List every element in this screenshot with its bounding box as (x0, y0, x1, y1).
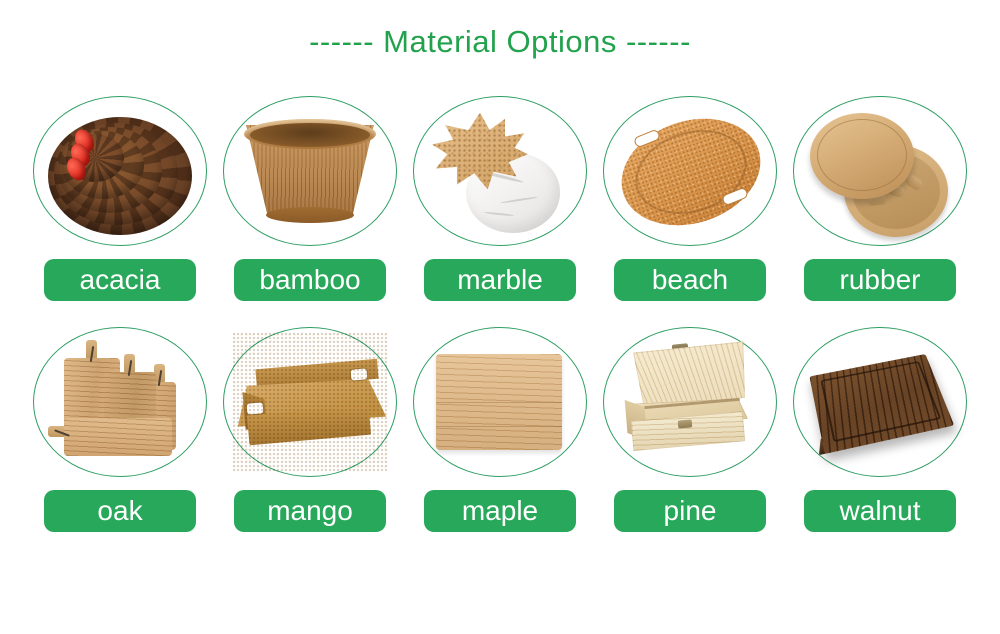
material-thumbnail-frame[interactable] (30, 319, 210, 484)
material-option-oak[interactable]: oak (30, 319, 210, 532)
material-row: oak (30, 319, 970, 532)
material-option-pine[interactable]: pine (600, 319, 780, 532)
material-option-marble[interactable]: marble (410, 88, 590, 301)
material-label-text: acacia (80, 266, 161, 294)
material-label-pill[interactable]: maple (424, 490, 576, 532)
maple-rectangular-cutting-board-image (422, 332, 578, 472)
marble-pineapple-serving-board-image (422, 101, 578, 241)
material-thumbnail-frame[interactable] (790, 319, 970, 484)
material-option-rubber[interactable]: rubber (790, 88, 970, 301)
rubberwood-round-cheese-board-set-image (802, 101, 958, 241)
material-label-pill[interactable]: marble (424, 259, 576, 301)
material-label-text: walnut (840, 497, 921, 525)
material-option-beach[interactable]: beach (600, 88, 780, 301)
material-label-text: beach (652, 266, 728, 294)
material-label-text: maple (462, 497, 538, 525)
pine-open-hinged-storage-box-image (612, 332, 768, 472)
material-label-pill[interactable]: mango (234, 490, 386, 532)
material-row: acacia bamboo (30, 88, 970, 301)
page-title-text: ------ Material Options ------ (309, 24, 691, 60)
material-thumbnail-frame[interactable] (220, 88, 400, 253)
material-label-pill[interactable]: beach (614, 259, 766, 301)
material-thumbnail-frame[interactable] (410, 88, 590, 253)
material-options-grid: acacia bamboo (30, 88, 970, 532)
oak-paddle-cutting-boards-image (42, 332, 198, 472)
material-label-text: mango (267, 497, 353, 525)
material-option-acacia[interactable]: acacia (30, 88, 210, 301)
material-label-pill[interactable]: acacia (44, 259, 196, 301)
material-thumbnail-frame[interactable] (600, 319, 780, 484)
material-thumbnail-frame[interactable] (600, 88, 780, 253)
material-label-pill[interactable]: oak (44, 490, 196, 532)
material-option-walnut[interactable]: walnut (790, 319, 970, 532)
material-option-bamboo[interactable]: bamboo (220, 88, 400, 301)
material-label-pill[interactable]: bamboo (234, 259, 386, 301)
material-label-text: rubber (840, 266, 921, 294)
material-option-mango[interactable]: mango (220, 319, 400, 532)
material-thumbnail-frame[interactable] (790, 88, 970, 253)
material-thumbnail-frame[interactable] (30, 88, 210, 253)
material-thumbnail-frame[interactable] (410, 319, 590, 484)
material-options-page: ------ Material Options ------ (0, 0, 1000, 634)
walnut-board-with-juice-groove-image (802, 332, 958, 472)
material-label-text: bamboo (259, 266, 360, 294)
material-label-text: pine (664, 497, 717, 525)
material-label-text: oak (97, 497, 142, 525)
acacia-wood-plates-stack-with-tomatoes-image (42, 101, 198, 241)
material-label-text: marble (457, 266, 543, 294)
material-label-pill[interactable]: pine (614, 490, 766, 532)
page-title: ------ Material Options ------ (0, 24, 1000, 60)
material-label-pill[interactable]: rubber (804, 259, 956, 301)
mango-wood-rectangular-tray-image (232, 332, 388, 472)
material-option-maple[interactable]: maple (410, 319, 590, 532)
material-thumbnail-frame[interactable] (220, 319, 400, 484)
beech-oval-tray-with-handles-image (612, 101, 768, 241)
material-label-pill[interactable]: walnut (804, 490, 956, 532)
bamboo-tapered-bowl-image (232, 101, 388, 241)
